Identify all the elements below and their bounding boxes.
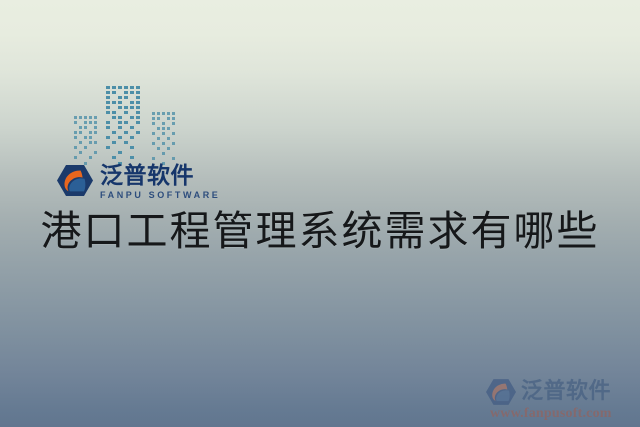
brand-name-cn: 泛普软件	[100, 164, 220, 188]
watermark-name-cn: 泛普软件	[521, 380, 611, 404]
promo-banner: 泛普软件 FANPU SOFTWARE 港口工程管理系统需求有哪些 泛普软件 w…	[0, 0, 640, 427]
brand-name-en: FANPU SOFTWARE	[100, 191, 220, 200]
watermark-url: www.fanpusoft.com	[490, 406, 632, 422]
page-title: 港口工程管理系统需求有哪些	[0, 207, 640, 255]
watermark-hexagon-mark-icon	[486, 379, 516, 405]
skyline-icon	[72, 84, 182, 166]
brand-logo: 泛普软件 FANPU SOFTWARE	[57, 164, 220, 200]
watermark: 泛普软件 www.fanpusoft.com	[486, 379, 632, 422]
fanpu-hexagon-mark-icon	[57, 165, 93, 196]
pixel-skyline-graphic	[72, 84, 182, 166]
